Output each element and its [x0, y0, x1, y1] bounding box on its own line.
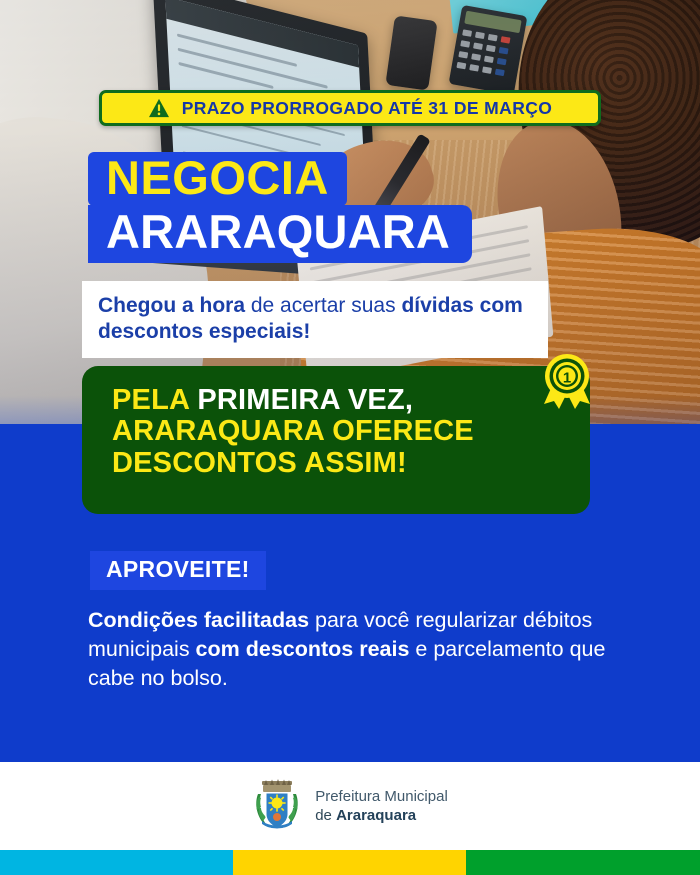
- bar-segment-yellow: [233, 850, 466, 875]
- headline-line-1: NEGOCIA: [88, 152, 347, 206]
- subtitle-box: Chegou a hora de acertar suas dívidas co…: [82, 281, 548, 358]
- highlight-line-1: PELA PRIMEIRA VEZ,: [112, 385, 568, 416]
- bar-segment-green: [466, 850, 700, 875]
- footer-city-name: Araraquara: [336, 807, 416, 824]
- footer-line-2-prefix: de: [315, 807, 336, 824]
- footer: Prefeitura Municipal de Araraquara: [0, 762, 700, 850]
- deadline-alert-banner: PRAZO PRORROGADO ATÉ 31 DE MARÇO: [99, 90, 601, 126]
- highlight-box: PELA PRIMEIRA VEZ, ARARAQUARA OFERECE DE…: [82, 366, 590, 514]
- body-bold-2: com descontos reais: [196, 637, 410, 661]
- highlight-line-1-yellow: PELA: [112, 384, 197, 416]
- headline-line-2: ARARAQUARA: [88, 205, 472, 263]
- warning-triangle-icon: [148, 98, 170, 118]
- medal-number: 1: [563, 370, 571, 387]
- subtitle-bold-1: Chegou a hora: [98, 294, 245, 317]
- first-place-medal-icon: 1: [534, 350, 600, 416]
- highlight-line-1-white: PRIMEIRA VEZ,: [197, 384, 413, 416]
- promotional-poster: PRAZO PRORROGADO ATÉ 31 DE MARÇO NEGOCIA…: [0, 0, 700, 875]
- body-bold-1: Condições facilitadas: [88, 608, 309, 632]
- footer-line-2: de Araraquara: [315, 806, 448, 825]
- body-paragraph: Condições facilitadas para você regulari…: [88, 606, 608, 693]
- highlight-line-2: ARARAQUARA OFERECE: [112, 416, 568, 447]
- cta-label: APROVEITE!: [90, 551, 266, 590]
- araraquara-coat-of-arms-icon: [252, 778, 302, 834]
- footer-text: Prefeitura Municipal de Araraquara: [315, 787, 448, 825]
- highlight-line-3: DESCONTOS ASSIM!: [112, 448, 568, 479]
- bar-segment-cyan: [0, 850, 233, 875]
- footer-line-1: Prefeitura Municipal: [315, 787, 448, 806]
- subtitle-normal-1: de acertar suas: [245, 294, 401, 317]
- bottom-color-bar: [0, 850, 700, 875]
- deadline-alert-text: PRAZO PRORROGADO ATÉ 31 DE MARÇO: [182, 98, 553, 119]
